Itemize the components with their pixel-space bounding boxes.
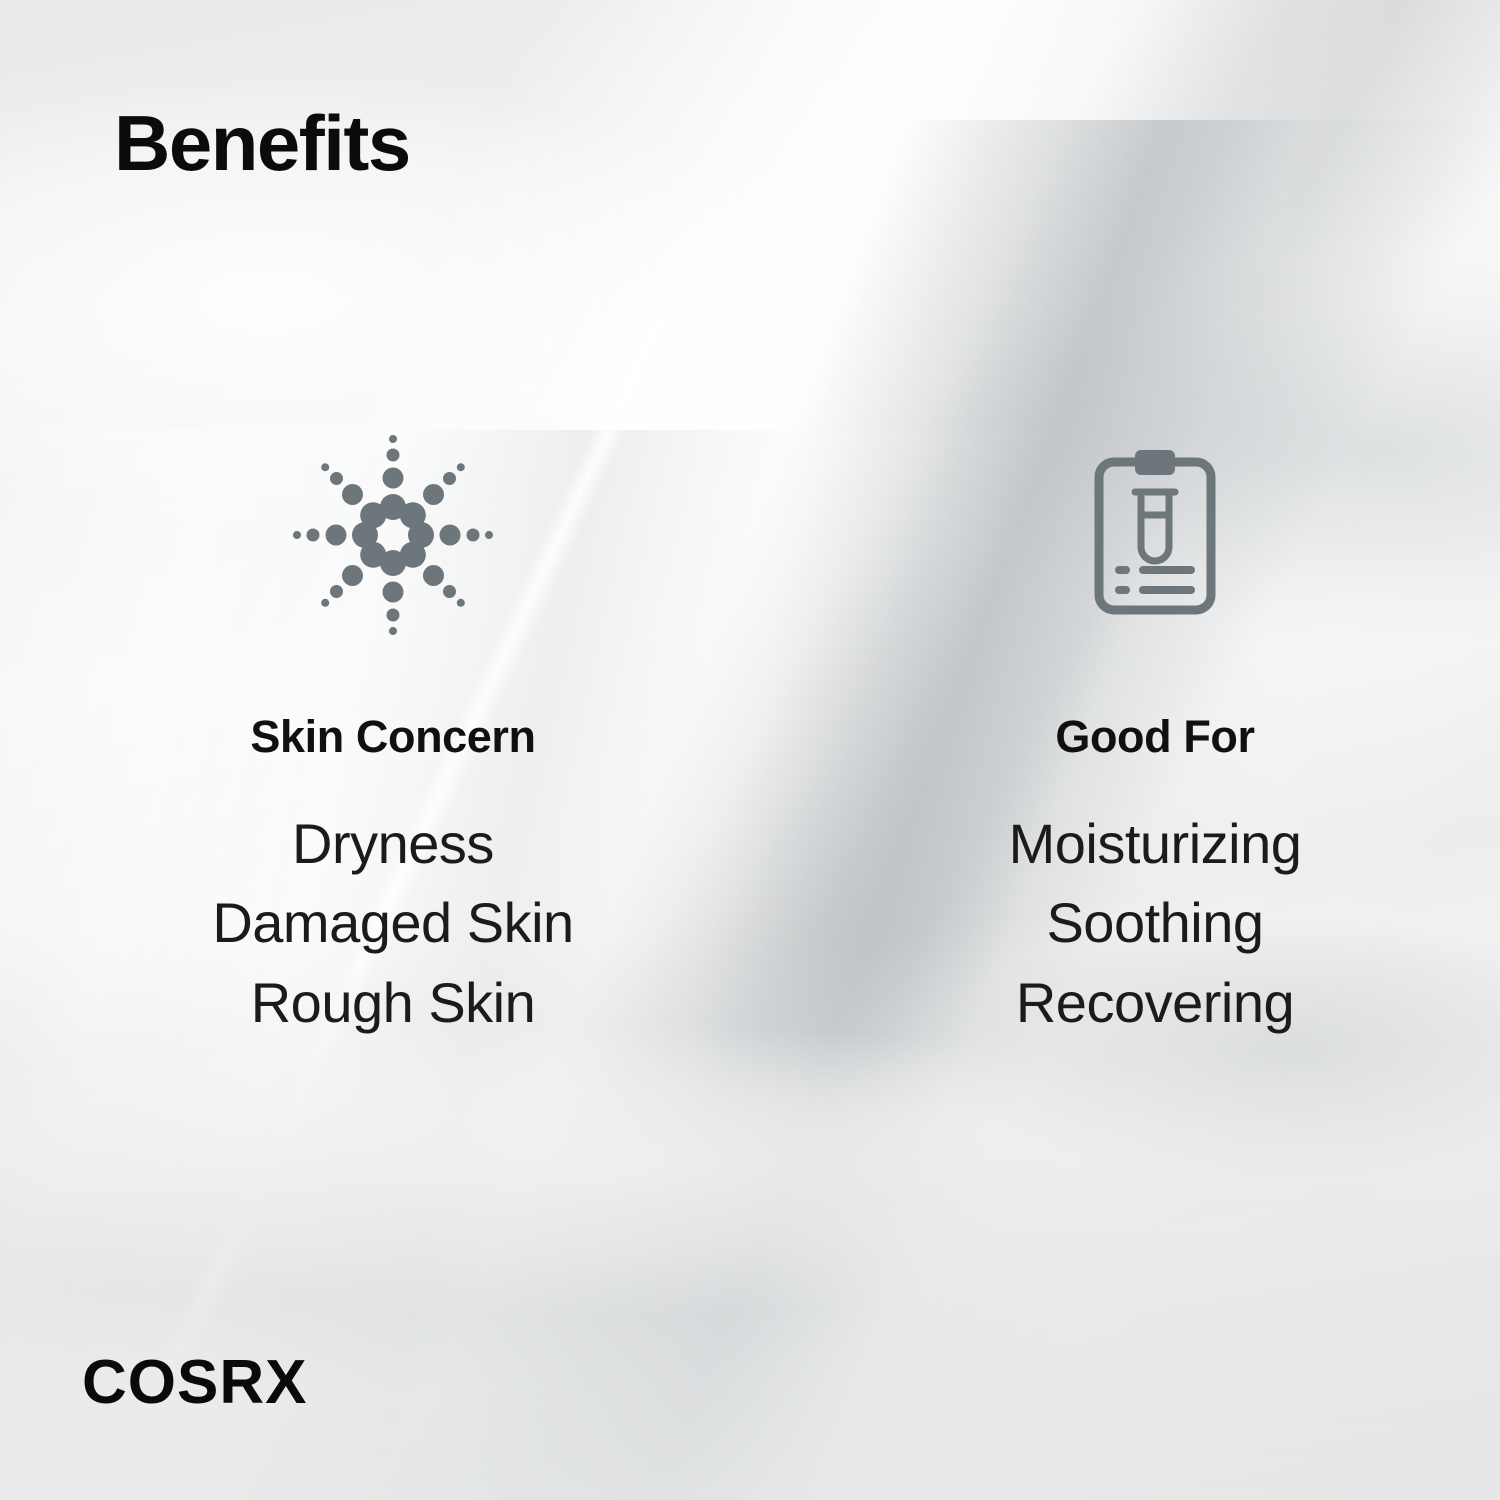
list-item: Dryness — [212, 804, 573, 884]
list-item: Recovering — [1009, 963, 1302, 1043]
benefit-column-skin-concern: Skin Concern Dryness Damaged Skin Rough … — [0, 430, 768, 1042]
list-item: Moisturizing — [1009, 804, 1302, 884]
list-item: Rough Skin — [212, 963, 573, 1043]
benefit-list-skin-concern: Dryness Damaged Skin Rough Skin — [212, 804, 573, 1043]
list-item: Soothing — [1009, 883, 1302, 963]
column-heading-skin-concern: Skin Concern — [250, 712, 535, 762]
list-item: Damaged Skin — [212, 883, 573, 963]
benefit-column-good-for: Good For Moisturizing Soothing Recoverin… — [768, 430, 1500, 1042]
column-heading-good-for: Good For — [1055, 712, 1254, 762]
benefit-list-good-for: Moisturizing Soothing Recovering — [1009, 804, 1302, 1043]
clipboard-test-tube-icon — [1089, 430, 1221, 640]
benefits-infographic: Benefits — [0, 0, 1500, 1500]
sparkle-starburst-icon — [293, 430, 493, 640]
page-title: Benefits — [114, 104, 410, 182]
benefits-columns: Skin Concern Dryness Damaged Skin Rough … — [0, 430, 1500, 1042]
brand-logo-cosrx: COSRX — [82, 1352, 307, 1414]
